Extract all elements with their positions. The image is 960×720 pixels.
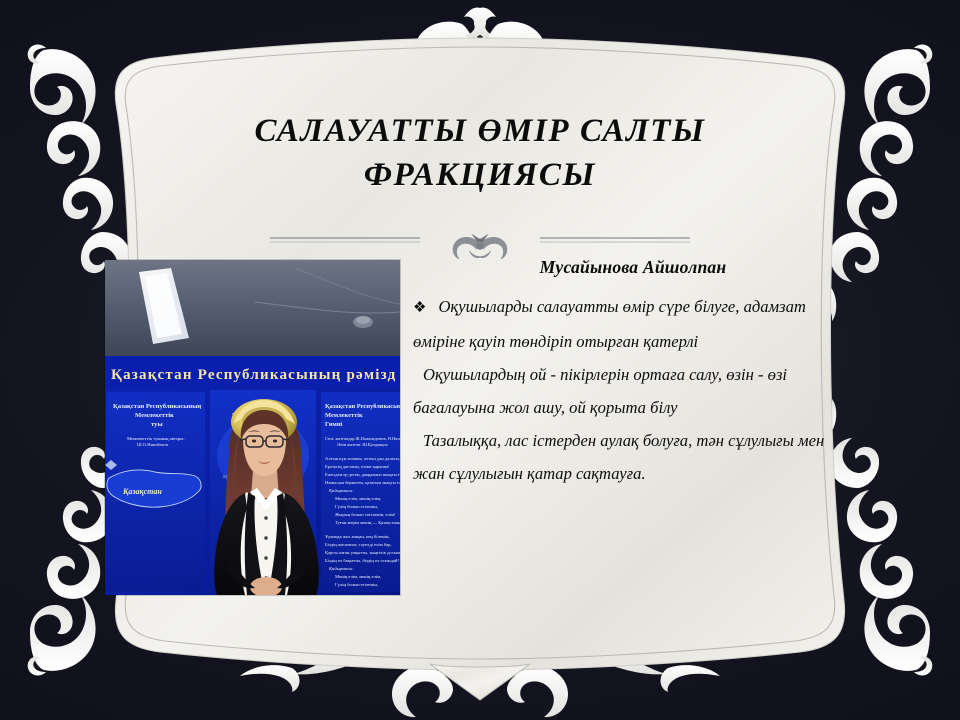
svg-text:Мемлекеттік: Мемлекеттік — [325, 412, 363, 419]
svg-text:Мемлекеттік туының авторы:: Мемлекеттік туының авторы: — [127, 436, 185, 441]
svg-text:Туған жерім менің — Қазақстан: Туған жерім менің — Қазақстаным! — [335, 520, 400, 525]
bullet-paragraph-3: Тазалыққа, лас істерден аулақ болуға, тә… — [413, 424, 853, 490]
bullet-paragraph-2: Оқушылардың ой - пікірлерін ортаға салу,… — [413, 358, 853, 424]
svg-text:Қазақстан: Қазақстан — [122, 487, 162, 496]
body-text: Мусайынова Айшолпан ❖Оқушыларды салауатт… — [413, 251, 853, 490]
slide-title: САЛАУАТТЫ ӨМІР САЛТЫ ФРАКЦИЯСЫ — [155, 110, 805, 197]
svg-text:Қазақстан Республикасының: Қазақстан Республикасының — [325, 403, 400, 410]
bullet-paragraph-1-text: Оқушыларды салауатты өмір сүре білуге, а… — [413, 297, 806, 351]
svg-text:Әнін жазған: Ш.Қалдаяқов: Әнін жазған: Ш.Қалдаяқов — [337, 442, 388, 447]
bullet-paragraph-1: ❖Оқушыларды салауатты өмір сүре білуге, … — [413, 290, 853, 358]
card-content: САЛАУАТТЫ ӨМІР САЛТЫ ФРАКЦИЯСЫ — [95, 55, 865, 645]
bullet-paragraph-3-text: Тазалыққа, лас істерден аулақ болуға, тә… — [413, 431, 824, 483]
svg-text:Мемлекеттік: Мемлекеттік — [135, 412, 174, 419]
svg-text:туы: туы — [151, 421, 163, 428]
bullet-paragraph-2-text: Оқушылардың ой - пікірлерін ортаға салу,… — [413, 365, 787, 417]
student-portrait-photo: Қазақстан Республикасының рәмізд Қазақст… — [105, 260, 400, 595]
svg-text:Ш.О.Ниязбеков: Ш.О.Ниязбеков — [137, 442, 169, 447]
svg-text:Қайырмасы:: Қайырмасы: — [328, 566, 354, 571]
slide-title-line-1: САЛАУАТТЫ ӨМІР САЛТЫ — [155, 110, 805, 154]
svg-text:Қазақстан Республикасының р: Қазақстан Республикасының рәмізд — [111, 367, 396, 383]
svg-text:Қазақстан Республикасының: Қазақстан Республикасының — [113, 403, 201, 410]
svg-text:Гимні: Гимні — [325, 421, 343, 428]
slide-title-line-2: ФРАКЦИЯСЫ — [155, 154, 805, 198]
slide: САЛАУАТТЫ ӨМІР САЛТЫ ФРАКЦИЯСЫ — [0, 0, 960, 720]
author-name: Мусайынова Айшолпан — [413, 251, 853, 284]
svg-text:Қайырмасы:: Қайырмасы: — [328, 488, 354, 493]
diamond-bullet-icon: ❖ — [413, 300, 428, 316]
